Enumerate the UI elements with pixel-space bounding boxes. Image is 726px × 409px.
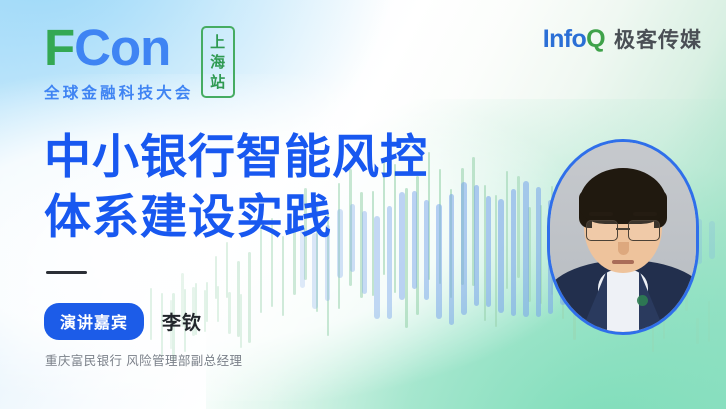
infoq-text-info: Info — [543, 25, 586, 53]
infoq-text-q: Q — [586, 25, 605, 53]
fcon-logo-text: FCon 全球金融科技大会 — [44, 24, 194, 103]
city-badge-char-2: 海 — [208, 53, 228, 73]
portrait-frame — [547, 139, 699, 335]
fcon-letter-f: F — [44, 19, 74, 76]
speaker-affiliation: 重庆富民银行 风险管理部副总经理 — [45, 350, 242, 369]
portrait-lapel-left — [581, 270, 607, 332]
fcon-logo: FCon 全球金融科技大会 上 海 站 — [44, 24, 235, 103]
portrait-nose — [618, 242, 629, 255]
speaker-portrait — [547, 139, 699, 335]
portrait-lapel-pin — [637, 295, 648, 306]
infoq-brand: InfoQ 极客传媒 — [543, 24, 702, 54]
infoq-wordmark: InfoQ — [543, 27, 605, 52]
portrait-eyebrow-left — [589, 212, 613, 216]
portrait-glasses-bridge — [616, 228, 630, 230]
fcon-subtitle: 全球金融科技大会 — [44, 81, 194, 103]
city-badge-char-3: 站 — [208, 73, 228, 93]
title-line-1: 中小银行智能风控 — [44, 127, 428, 187]
portrait-glasses — [585, 220, 661, 240]
infoq-chinese-name: 极客传媒 — [614, 24, 702, 54]
title-divider — [46, 271, 87, 274]
speaker-block: 演讲嘉宾 李钦 — [44, 303, 202, 340]
speaker-badge: 演讲嘉宾 — [44, 303, 144, 340]
portrait-mouth — [612, 260, 634, 264]
portrait-eyebrow-right — [633, 212, 657, 216]
fcon-wordmark: FCon — [44, 24, 194, 72]
speaker-name: 李钦 — [162, 308, 202, 335]
portrait-lens-right — [628, 220, 660, 241]
portrait-lens-left — [586, 220, 618, 241]
fcon-letters-con: Con — [74, 19, 170, 76]
city-badge-char-1: 上 — [208, 33, 228, 53]
title-line-2: 体系建设实践 — [44, 187, 428, 247]
conference-slide: FCon 全球金融科技大会 上 海 站 InfoQ 极客传媒 中小银行智能风控 … — [0, 0, 726, 409]
city-badge-shanghai: 上 海 站 — [201, 26, 235, 98]
presentation-title: 中小银行智能风控 体系建设实践 — [44, 127, 428, 247]
